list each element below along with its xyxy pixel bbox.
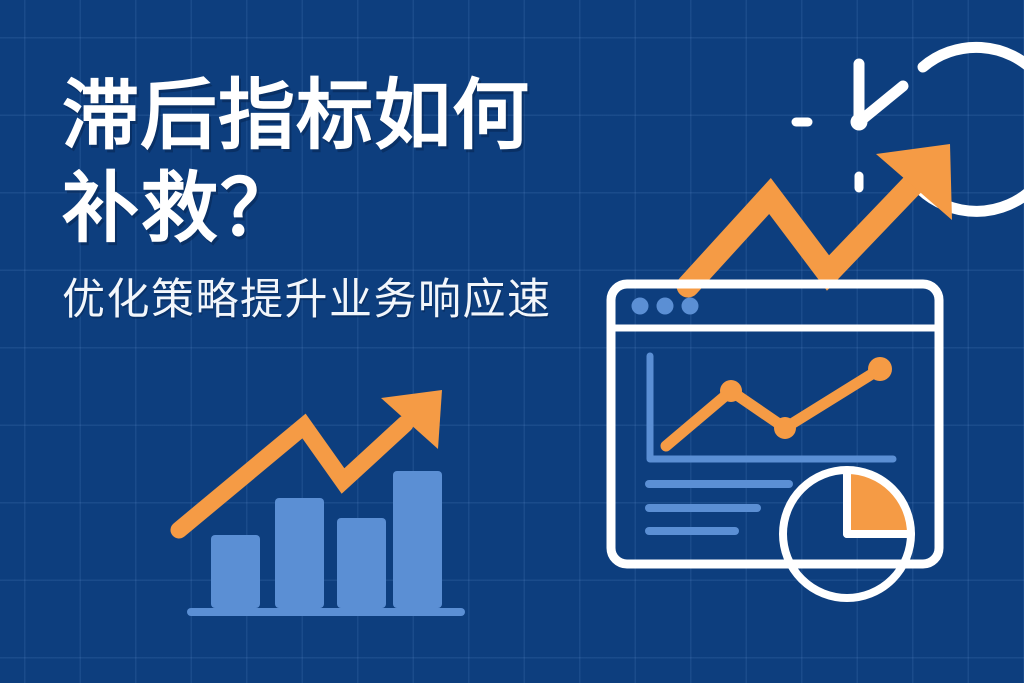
window-dot-3[interactable] [682, 298, 699, 315]
bar-4 [393, 471, 442, 608]
window-dot-2[interactable] [657, 298, 674, 315]
poster-canvas: 滞后指标如何 补救？ 优化策略提升业务响应速 [0, 0, 1024, 683]
line-chart-axes [650, 356, 893, 459]
line-chart-marker-3 [868, 357, 892, 381]
headline-line-1: 滞后指标如何 [62, 70, 722, 163]
line-chart-marker-2 [774, 417, 796, 439]
line-chart-marker-1 [720, 380, 742, 402]
trend-arrow-polyline [688, 179, 918, 286]
bar-3 [337, 518, 386, 608]
window-dot-1[interactable] [632, 298, 649, 315]
clock-minute-hand [859, 86, 903, 122]
clock-center-hub [851, 114, 868, 131]
headline-line-2: 补救？ [62, 163, 722, 256]
pie-chart-icon [785, 462, 945, 617]
line-chart-series [666, 369, 880, 446]
bar-1 [211, 535, 260, 608]
bar-chart-with-arrow [165, 382, 475, 624]
bar-2 [275, 498, 324, 608]
